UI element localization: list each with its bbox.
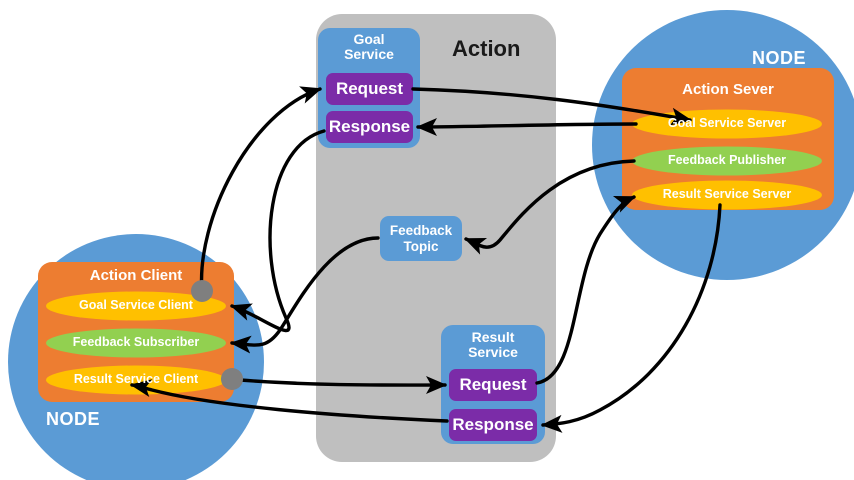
result-service-request-box[interactable] — [449, 369, 537, 401]
goal-service-request-box[interactable] — [326, 73, 413, 105]
goal-service-response-box[interactable] — [326, 111, 413, 143]
action-panel-label: Action — [452, 36, 520, 62]
pill-result-service-server[interactable] — [632, 181, 822, 210]
result-service-response-box[interactable] — [449, 409, 537, 441]
diagram-canvas: Action Goal Service Request Response Res… — [0, 0, 854, 480]
pill-result-service-client[interactable] — [46, 366, 226, 395]
pill-feedback-publisher[interactable] — [632, 147, 822, 176]
connector-dot-result-service-client — [221, 368, 243, 390]
feedback-topic-box[interactable] — [380, 216, 462, 261]
arrow-goal-client-to-request — [202, 89, 320, 292]
pill-feedback-subscriber[interactable] — [46, 329, 226, 358]
diagram-vector-layer — [0, 0, 854, 480]
connector-dot-goal-service-client — [191, 280, 213, 302]
